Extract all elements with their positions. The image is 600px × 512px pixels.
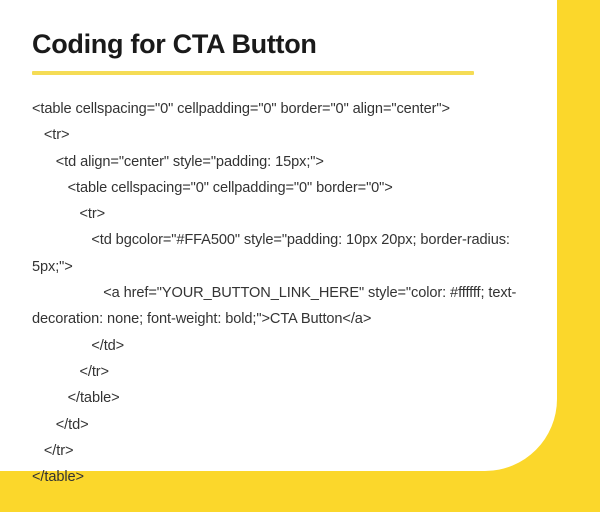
- content-panel: Coding for CTA Button <table cellspacing…: [0, 0, 557, 471]
- slide-canvas: Coding for CTA Button <table cellspacing…: [0, 0, 600, 512]
- title-underline-rule: [32, 71, 474, 75]
- code-snippet: <table cellspacing="0" cellpadding="0" b…: [32, 96, 540, 490]
- page-title: Coding for CTA Button: [32, 27, 317, 61]
